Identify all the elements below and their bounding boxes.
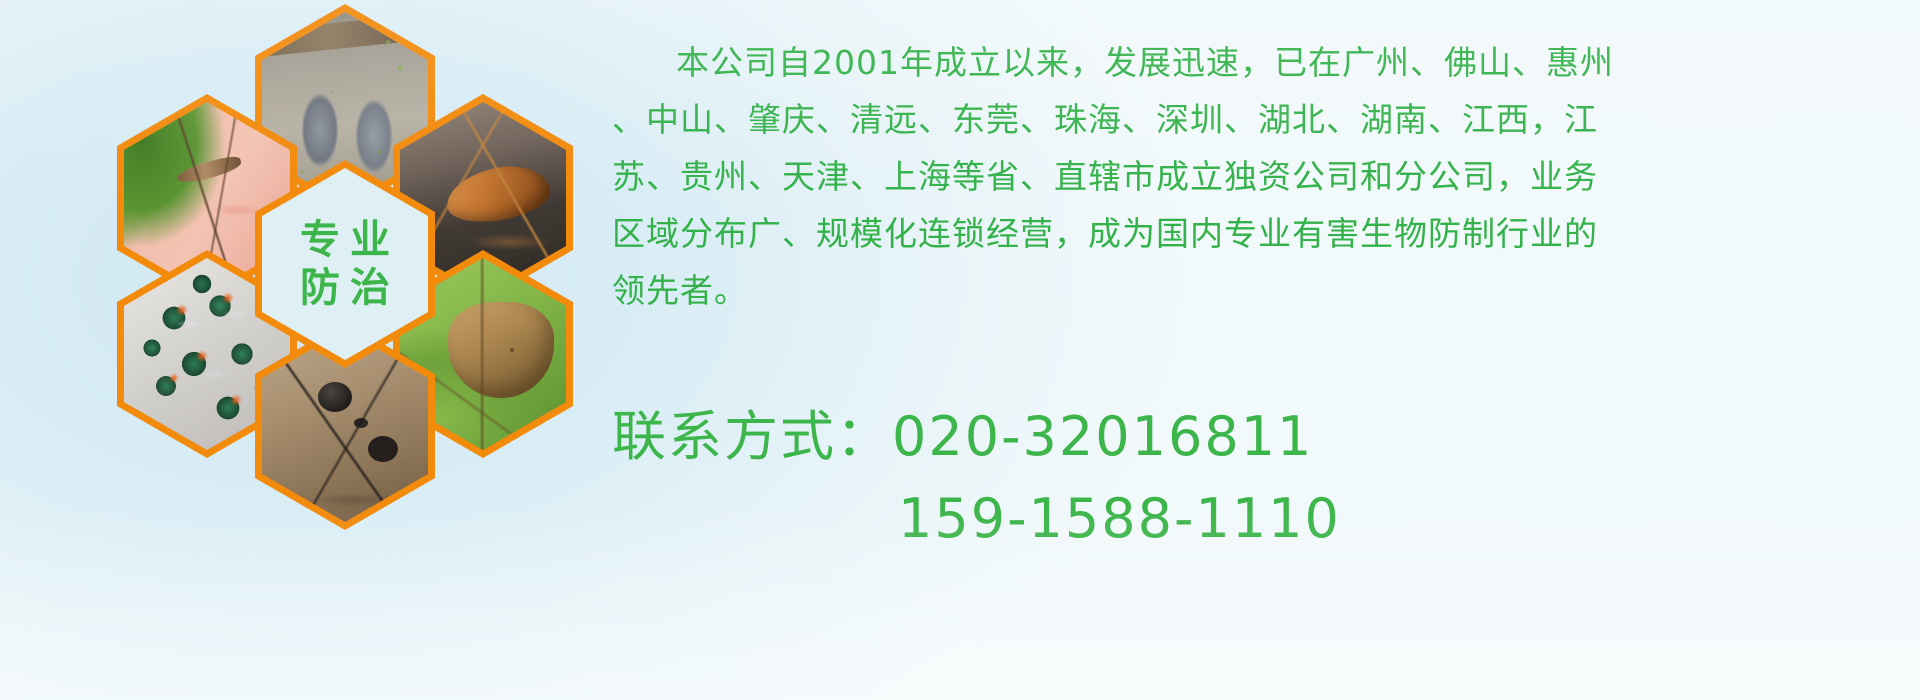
pest-control-banner: 专业 防治 本公司自2001年成立以来，发展迅速，已在广州、佛山、惠州 、中山、… — [0, 0, 1920, 700]
logo-text: 专业 防治 — [262, 168, 428, 360]
honeycomb-logo: 专业 防治 — [95, 0, 595, 562]
hex-inner: 专业 防治 — [262, 168, 428, 360]
contact-phone-primary[interactable]: 联系方式：020-32016811 — [612, 396, 1902, 478]
content-column: 本公司自2001年成立以来，发展迅速，已在广州、佛山、惠州 、中山、肇庆、清远、… — [612, 0, 1920, 700]
description-line: 领先者。 — [612, 262, 1902, 319]
description-line: 、中山、肇庆、清远、东莞、珠海、深圳、湖北、湖南、江西，江 — [612, 91, 1902, 148]
description-line: 区域分布广、规模化连锁经营，成为国内专业有害生物防制行业的 — [612, 205, 1902, 262]
logo-text-line-2: 防治 — [290, 267, 400, 309]
contact-phone-secondary[interactable]: 159-1588-1110 — [612, 478, 1902, 560]
company-description: 本公司自2001年成立以来，发展迅速，已在广州、佛山、惠州 、中山、肇庆、清远、… — [612, 34, 1902, 319]
description-line: 苏、贵州、天津、上海等省、直辖市成立独资公司和分公司，业务 — [612, 148, 1902, 205]
description-line: 本公司自2001年成立以来，发展迅速，已在广州、佛山、惠州 — [612, 34, 1902, 91]
contact-block: 联系方式：020-32016811 159-1588-1110 — [612, 396, 1902, 560]
logo-text-line-1: 专业 — [290, 219, 400, 261]
